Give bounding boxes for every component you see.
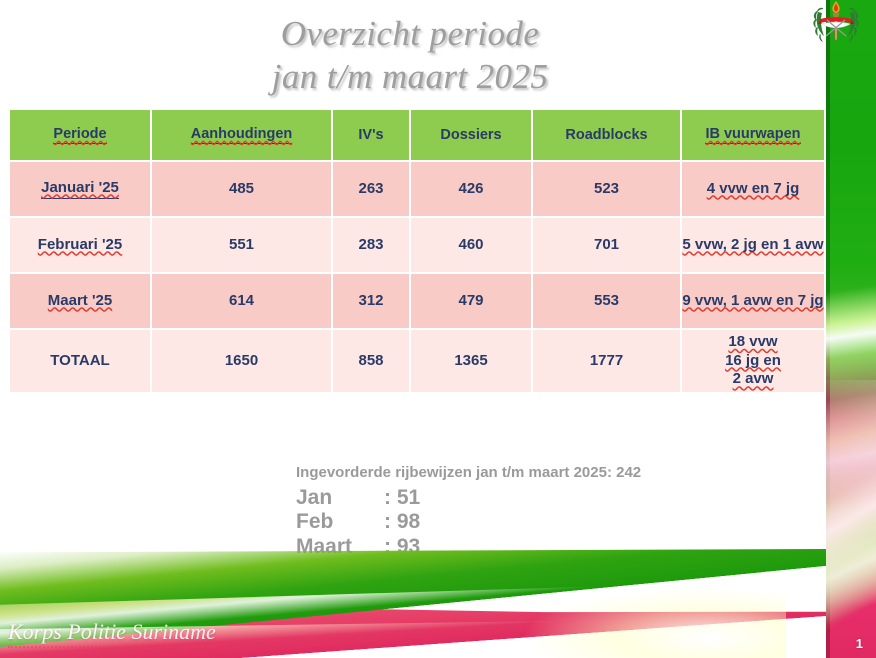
note-row: Jan : 51 [296,486,641,510]
band-streak [826,0,876,658]
cell-ivs: 858 [333,330,411,394]
cell-periode: Februari '25 [10,218,152,274]
cell-periode: TOTAAL [10,330,152,394]
cell-ib-vuurwapen: 18 vvw 16 jg en 2 avw [682,330,824,394]
column-header-ib-vuurwapen: IB vuurwapen [682,110,824,162]
column-header-periode-label: Periode [53,126,106,144]
cell-dossiers: 479 [411,274,533,330]
table-header-row: Periode Aanhoudingen IV's Dossiers Roadb… [10,110,824,162]
table-row: Januari '25 485 263 426 523 4 vvw en 7 j… [10,162,824,218]
band-streak [826,0,876,658]
band-streak [826,0,876,658]
cell-aanhoudingen: 551 [152,218,333,274]
cell-roadblocks: 523 [533,162,682,218]
cell-ib-vuurwapen: 5 vvw, 2 jg en 1 avw [682,218,824,274]
cell-roadblocks: 1777 [533,330,682,394]
column-header-roadblocks: Roadblocks [533,110,682,162]
cell-aanhoudingen: 614 [152,274,333,330]
cell-aanhoudingen: 1650 [152,330,333,394]
ribbon-glow [526,588,786,658]
band-streak [826,380,876,658]
cell-dossiers: 1365 [411,330,533,394]
note-value-maart: : 93 [384,535,420,559]
footer-organization-name: Korps Politie Suriname [8,619,216,648]
cell-aanhoudingen: 485 [152,162,333,218]
note-label-maart: Maart [296,535,384,559]
note-value-jan: : 51 [384,486,420,510]
band-streak [826,470,876,658]
column-header-ib-vuurwapen-label: IB vuurwapen [705,126,800,144]
note-label-jan: Jan [296,486,384,510]
cell-periode: Januari '25 [10,162,152,218]
cell-roadblocks: 553 [533,274,682,330]
cell-roadblocks: 701 [533,218,682,274]
slide-canvas: 1 [0,0,876,658]
note-row: Feb : 98 [296,510,641,534]
table-row-total: TOTAAL 1650 858 1365 1777 18 vvw 16 jg e… [10,330,824,394]
table-row: Maart '25 614 312 479 553 9 vvw, 1 avw e… [10,274,824,330]
cell-periode: Maart '25 [10,274,152,330]
cell-ib-vuurwapen: 4 vvw en 7 jg [682,162,824,218]
cell-periode-label: Maart '25 [48,292,112,309]
cell-ivs: 263 [333,162,411,218]
cell-ib-vuurwapen: 9 vvw, 1 avw en 7 jg [682,274,824,330]
statistics-table: Periode Aanhoudingen IV's Dossiers Roadb… [10,110,824,394]
column-header-aanhoudingen-label: Aanhoudingen [191,126,293,144]
note-heading: Ingevorderde rijbewijzen jan t/m maart 2… [296,464,641,481]
slide-title: Overzicht periode jan t/m maart 2025 [0,12,820,99]
korps-politie-suriname-logo-icon [812,0,860,52]
column-header-ivs: IV's [333,110,411,162]
note-block: Ingevorderde rijbewijzen jan t/m maart 2… [296,464,641,559]
cell-ivs: 283 [333,218,411,274]
cell-dossiers: 426 [411,162,533,218]
column-header-aanhoudingen: Aanhoudingen [152,110,333,162]
note-value-feb: : 98 [384,510,420,534]
band-edge [826,0,830,658]
cell-periode-label: Februari '25 [38,236,122,253]
cell-periode-label: Januari '25 [41,179,119,200]
cell-ivs: 312 [333,274,411,330]
cell-dossiers: 460 [411,218,533,274]
column-header-dossiers: Dossiers [411,110,533,162]
note-row: Maart : 93 [296,535,641,559]
right-decorative-band [826,0,876,658]
table-row: Februari '25 551 283 460 701 5 vvw, 2 jg… [10,218,824,274]
page-number: 1 [856,636,863,651]
note-label-feb: Feb [296,510,384,534]
column-header-periode: Periode [10,110,152,162]
